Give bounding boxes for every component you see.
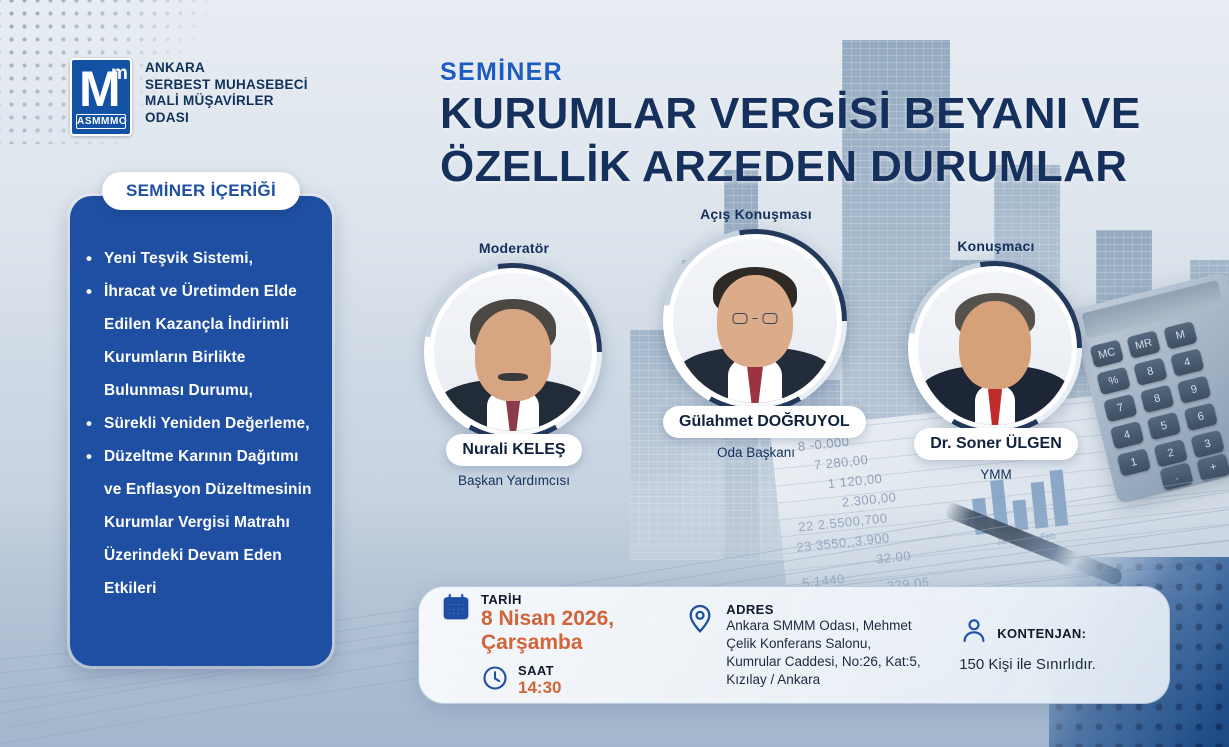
address-line-3: Kumrular Caddesi, No:26, Kat:5, bbox=[726, 653, 920, 671]
org-name-line4: ODASI bbox=[145, 110, 308, 127]
speaker-name: Gülahmet DOĞRUYOL bbox=[663, 406, 866, 438]
speaker-card-moderator: Moderatör Nurali KELEŞ Başkan Yardımcısı bbox=[424, 240, 604, 488]
list-item: Düzeltme Karının Dağıtımı ve Enflasyon D… bbox=[84, 440, 314, 605]
logo-small-letter: m bbox=[111, 64, 128, 83]
clock-icon bbox=[481, 664, 509, 697]
organization-name: ANKARA SERBEST MUHASEBECİ MALİ MÜŞAVİRLE… bbox=[145, 58, 308, 126]
capacity-label: KONTENJAN: bbox=[997, 626, 1086, 641]
avatar bbox=[673, 239, 837, 403]
avatar bbox=[434, 273, 592, 431]
person-icon bbox=[959, 616, 989, 651]
seminar-poster: 8 -0.000 7 280,00 1 120,00 2.300,00 22 2… bbox=[0, 0, 1229, 747]
content-topic-list: Yeni Teşvik Sistemi, İhracat ve Üretimde… bbox=[84, 242, 314, 605]
info-date-block: TARİH 8 Nisan 2026, Çarşamba SAAT 14:30 bbox=[441, 592, 674, 698]
org-name-line1: ANKARA bbox=[145, 60, 308, 77]
title-kicker: SEMİNER bbox=[440, 58, 1110, 87]
org-name-line3: MALİ MÜŞAVİRLER bbox=[145, 93, 308, 110]
logo-mark: M m ASMMMO bbox=[70, 58, 132, 136]
org-name-line2: SERBEST MUHASEBECİ bbox=[145, 77, 308, 94]
date-label: TARİH bbox=[481, 592, 674, 607]
list-item: Yeni Teşvik Sistemi, bbox=[84, 242, 314, 275]
info-address-block: ADRES Ankara SMMM Odası, Mehmet Çelik Ko… bbox=[684, 602, 949, 689]
avatar-ring bbox=[663, 229, 847, 413]
time-label: SAAT bbox=[518, 663, 561, 678]
speaker-name: Nurali KELEŞ bbox=[446, 434, 581, 466]
title-line-2: ÖZELLİK ARZEDEN DURUMLAR bbox=[440, 141, 1110, 193]
avatar-ring bbox=[424, 263, 602, 441]
speaker-title: Başkan Yardımcısı bbox=[424, 473, 604, 488]
calendar-icon bbox=[441, 592, 471, 627]
speaker-card-opening: Açış Konuşması Gülahmet DOĞRUYOL Oda Baş… bbox=[663, 206, 849, 460]
address-line-4: Kızılay / Ankara bbox=[726, 671, 920, 689]
poster-title-block: SEMİNER KURUMLAR VERGİSİ BEYANI VE ÖZELL… bbox=[440, 58, 1110, 193]
speaker-card-presenter: Konuşmacı Dr. Soner ÜLGEN YMM bbox=[908, 238, 1084, 482]
location-pin-icon bbox=[684, 602, 716, 639]
speaker-role: Moderatör bbox=[424, 240, 604, 256]
avatar bbox=[918, 271, 1072, 425]
speaker-title: Oda Başkanı bbox=[663, 445, 849, 460]
address-line-1: Ankara SMMM Odası, Mehmet bbox=[726, 617, 920, 635]
speaker-role: Konuşmacı bbox=[908, 238, 1084, 254]
avatar-ring bbox=[908, 261, 1082, 435]
address-line-2: Çelik Konferans Salonu, bbox=[726, 635, 920, 653]
speaker-title: YMM bbox=[908, 467, 1084, 482]
address-label: ADRES bbox=[726, 602, 920, 617]
logo-acronym: ASMMMO bbox=[76, 114, 126, 129]
info-capacity-block: KONTENJAN: 150 Kişi ile Sınırlıdır. bbox=[959, 616, 1147, 674]
speaker-role: Açış Konuşması bbox=[663, 206, 849, 222]
seminar-content-panel: SEMİNER İÇERİĞİ Yeni Teşvik Sistemi, İhr… bbox=[70, 196, 332, 666]
speaker-name: Dr. Soner ÜLGEN bbox=[914, 428, 1078, 460]
content-panel-badge: SEMİNER İÇERİĞİ bbox=[102, 172, 300, 210]
asmmmo-logo: M m ASMMMO ANKARA SERBEST MUHASEBECİ MAL… bbox=[70, 58, 308, 136]
time-value: 14:30 bbox=[518, 678, 561, 698]
list-item: Sürekli Yeniden Değerleme, bbox=[84, 407, 314, 440]
title-line-1: KURUMLAR VERGİSİ BEYANI VE bbox=[440, 88, 1110, 140]
list-item: İhracat ve Üretimden Elde Edilen Kazançl… bbox=[84, 275, 314, 407]
date-value: 8 Nisan 2026, Çarşamba bbox=[481, 607, 674, 655]
capacity-value: 150 Kişi ile Sınırlıdır. bbox=[959, 656, 1147, 674]
event-info-bar: TARİH 8 Nisan 2026, Çarşamba SAAT 14:30 bbox=[418, 586, 1170, 704]
